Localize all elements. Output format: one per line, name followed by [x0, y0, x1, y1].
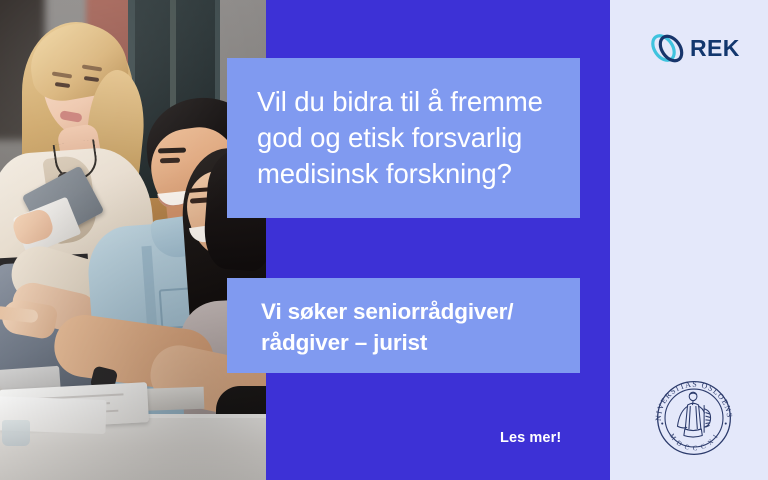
headline-card: Vil du bidra til å fremme god og etisk f…: [227, 58, 580, 218]
headline-text: Vil du bidra til å fremme god og etisk f…: [257, 84, 562, 192]
svg-text:UNIVERSITAS OSLOENSIS: UNIVERSITAS OSLOENSIS: [648, 372, 734, 421]
job-title-card: Vi søker seniorrådgiver/ rådgiver – juri…: [227, 278, 580, 373]
rek-interlocking-rings-icon: [648, 28, 688, 68]
job-title-text: Vi søker seniorrådgiver/ rådgiver – juri…: [261, 296, 564, 358]
rek-wordmark: REK: [690, 37, 740, 60]
read-more-link[interactable]: Les mer!: [500, 430, 561, 446]
photo-man-brow: [158, 148, 186, 154]
uio-seal-icon: UNIVERSITAS OSLOENSIS M D C C C X I: [648, 372, 740, 464]
photo-man-eye: [160, 158, 180, 164]
uio-seal[interactable]: UNIVERSITAS OSLOENSIS M D C C C X I: [648, 372, 740, 464]
recruitment-banner: Vil du bidra til å fremme god og etisk f…: [0, 0, 768, 480]
photo-cup: [2, 420, 30, 446]
rek-logo[interactable]: REK: [648, 26, 740, 70]
